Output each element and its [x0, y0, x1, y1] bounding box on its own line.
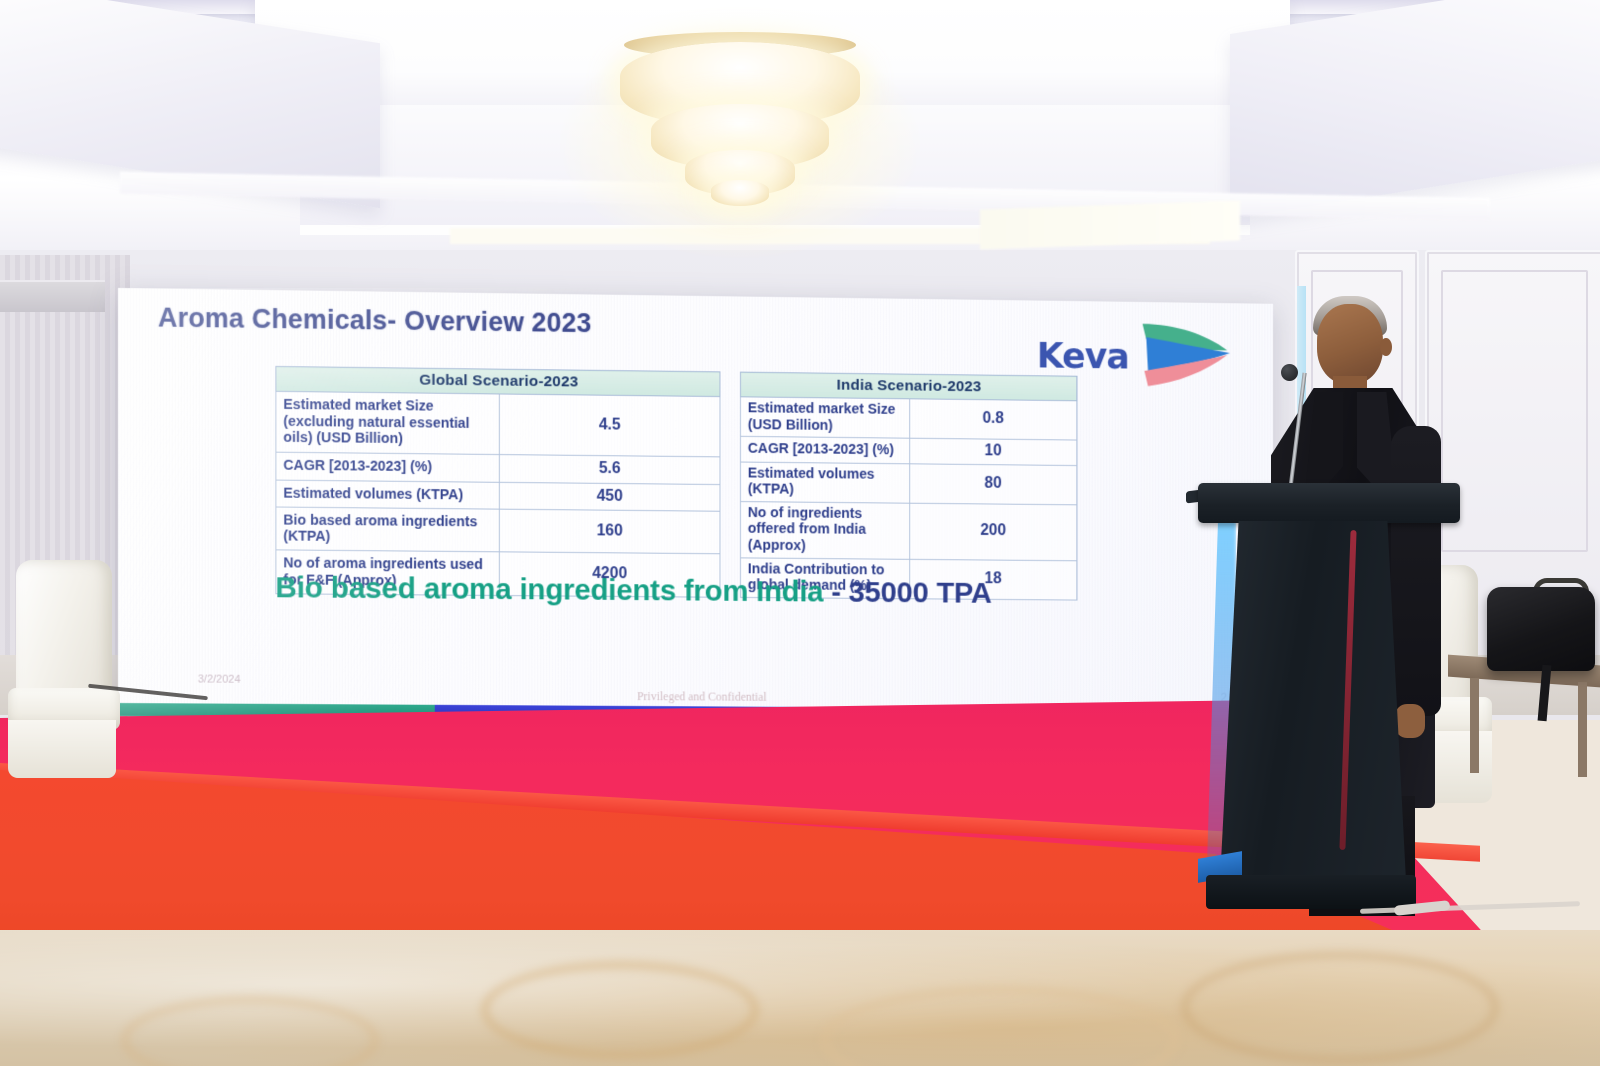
podium-base [1206, 875, 1416, 909]
table-row: Bio based aroma ingredients (KTPA) 160 [276, 507, 720, 554]
slide-tagline: Bio based aroma ingredients from India -… [275, 571, 991, 610]
row-label: Estimated volumes (KTPA) [276, 480, 499, 510]
ceiling-beam-right [1230, 0, 1600, 219]
table-row: CAGR [2013-2023] (%) 10 [740, 436, 1076, 465]
tagline-green-text: Bio based aroma ingredients from India [275, 571, 831, 608]
row-value: 4.5 [499, 394, 720, 457]
backpack [1487, 587, 1595, 671]
slide-footer-date: 3/2/2024 [198, 674, 241, 686]
table-row: No of ingredients offered from India (Ap… [740, 501, 1076, 560]
row-label: CAGR [2013-2023] (%) [740, 436, 909, 463]
row-value: 0.8 [909, 399, 1077, 440]
carpet-pattern [1180, 950, 1500, 1065]
row-label: CAGR [2013-2023] (%) [276, 452, 499, 482]
chandelier-tier-4 [711, 180, 769, 206]
speaker-ear [1380, 338, 1392, 356]
table-india-scenario: India Scenario-2023 Estimated market Siz… [740, 372, 1077, 601]
speaker-head [1317, 304, 1383, 384]
row-value: 80 [909, 464, 1077, 505]
slide-tables: Global Scenario-2023 Estimated market Si… [275, 366, 1125, 601]
row-value: 5.6 [499, 455, 720, 485]
screenshot-root: Aroma Chemicals- Overview 2023 Keva Glob… [0, 0, 1600, 1066]
projection-screen: Aroma Chemicals- Overview 2023 Keva Glob… [118, 288, 1273, 722]
row-value: 450 [499, 482, 720, 511]
tagline-navy-text: - 35000 TPA [831, 576, 992, 610]
chandelier [600, 8, 880, 208]
microphone-icon [1281, 364, 1298, 381]
podium-top-surface [1198, 483, 1460, 523]
keva-chevron-icon [1139, 318, 1231, 392]
presentation-slide: Aroma Chemicals- Overview 2023 Keva Glob… [118, 288, 1273, 722]
table-row: Estimated volumes (KTPA) 80 [740, 462, 1076, 505]
podium-body [1220, 521, 1406, 881]
keva-wordmark: Keva [1037, 336, 1129, 377]
row-label: Estimated market Size (USD Billion) [740, 397, 909, 439]
row-label: Estimated market Size (excluding natural… [276, 391, 499, 454]
side-table-leg [1578, 682, 1587, 777]
wall-panel-moulding-2 [1441, 270, 1588, 552]
row-label: Bio based aroma ingredients (KTPA) [276, 507, 499, 552]
wall-vent [0, 280, 105, 312]
row-value: 200 [909, 503, 1077, 560]
podium [1198, 483, 1460, 923]
slide-title: Aroma Chemicals- Overview 2023 [158, 303, 592, 340]
table-global-scenario: Global Scenario-2023 Estimated market Si… [275, 366, 720, 598]
row-value: 10 [909, 438, 1077, 465]
row-value: 160 [499, 509, 720, 554]
row-label: Estimated volumes (KTPA) [740, 462, 909, 503]
row-label: No of ingredients offered from India (Ap… [740, 501, 909, 559]
side-table-leg [1470, 678, 1479, 773]
carpet-pattern [480, 960, 760, 1060]
chair-skirt [8, 720, 116, 778]
table-row: Estimated volumes (KTPA) 450 [276, 480, 720, 512]
table-row: Estimated market Size (USD Billion) 0.8 [740, 397, 1076, 440]
table-row: Estimated market Size (excluding natural… [276, 391, 720, 457]
